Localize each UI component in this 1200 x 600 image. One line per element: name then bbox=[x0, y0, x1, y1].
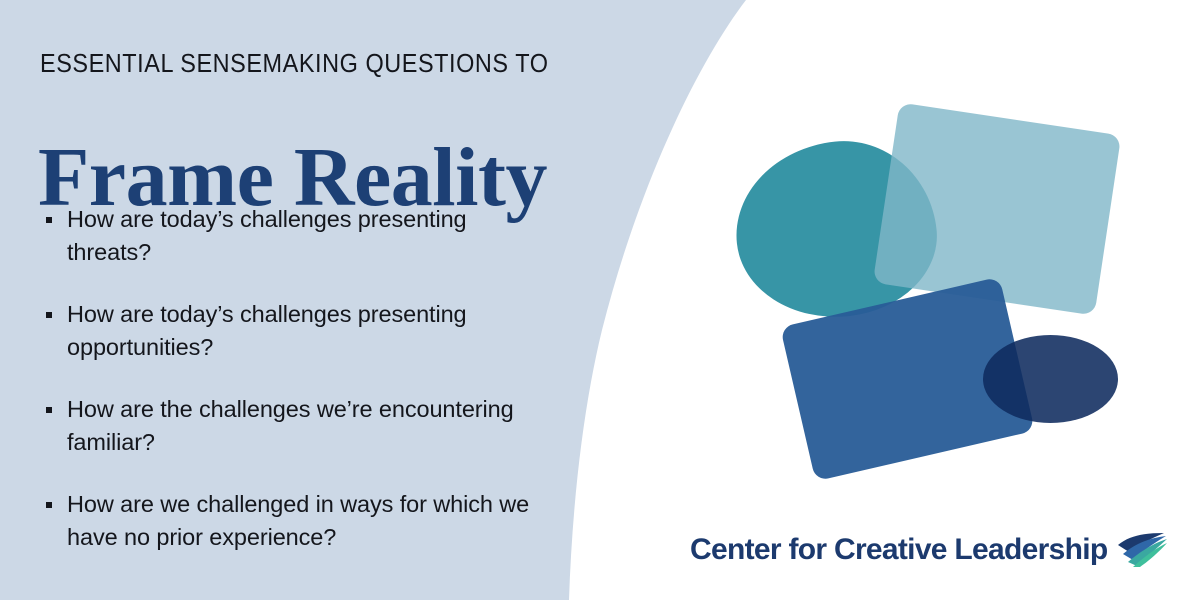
question-text: How are today’s challenges presenting op… bbox=[67, 298, 542, 364]
logo-wordmark: Center for Creative Leadership bbox=[690, 533, 1107, 567]
text-column: ESSENTIAL SENSEMAKING QUESTIONS TO Frame… bbox=[38, 0, 558, 600]
list-item: How are today’s challenges presenting op… bbox=[42, 298, 542, 364]
list-item: How are we challenged in ways for which … bbox=[42, 488, 542, 554]
logo-lockup: Center for Creative Leadership bbox=[690, 532, 1168, 568]
list-item: How are today’s challenges presenting th… bbox=[42, 203, 542, 269]
square-bullet-icon bbox=[46, 312, 52, 318]
square-bullet-icon bbox=[46, 217, 52, 223]
ccl-swoosh-icon bbox=[1116, 532, 1168, 568]
question-text: How are today’s challenges presenting th… bbox=[67, 203, 542, 269]
list-item: How are the challenges we’re encounterin… bbox=[42, 393, 542, 459]
question-text: How are the challenges we’re encounterin… bbox=[67, 393, 542, 459]
question-text: How are we challenged in ways for which … bbox=[67, 488, 542, 554]
eyebrow-text: ESSENTIAL SENSEMAKING QUESTIONS TO bbox=[40, 50, 549, 78]
poster-canvas: ESSENTIAL SENSEMAKING QUESTIONS TO Frame… bbox=[0, 0, 1200, 600]
square-bullet-icon bbox=[46, 407, 52, 413]
square-bullet-icon bbox=[46, 502, 52, 508]
questions-list: How are today’s challenges presenting th… bbox=[42, 203, 542, 554]
